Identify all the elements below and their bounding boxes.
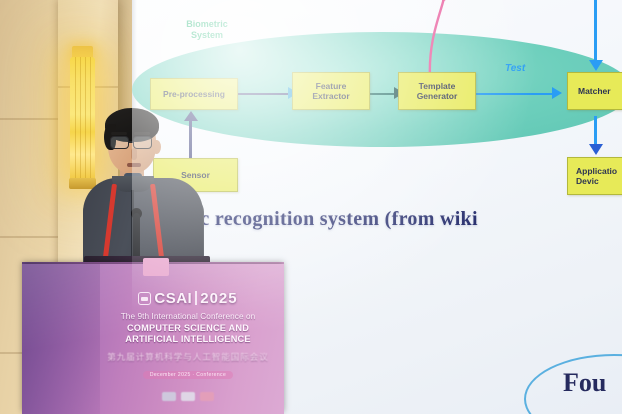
arrowhead-template-to-matcher bbox=[552, 87, 562, 99]
wall-seam bbox=[0, 236, 60, 238]
screenshot-root: Biometric System Pre-processing Sensor F… bbox=[0, 0, 622, 414]
wall-seam bbox=[0, 118, 60, 120]
glasses-bridge bbox=[128, 141, 134, 143]
speaker-mouth bbox=[127, 163, 141, 167]
glasses-lens-left bbox=[110, 136, 129, 149]
speaker-eyebrow-left bbox=[111, 132, 127, 135]
conference-title-chinese: 第九届计算机科学与人工智能国际会议 bbox=[100, 351, 276, 363]
node-matcher-label: Matcher bbox=[578, 86, 611, 96]
speaker-nose bbox=[131, 148, 137, 160]
node-pre-processing[interactable]: Pre-processing bbox=[150, 78, 238, 110]
speaker-ear bbox=[152, 140, 161, 154]
flow-label-test: Test bbox=[505, 63, 525, 74]
node-template-generator-label-line2: Generator bbox=[417, 91, 458, 101]
slide-caption: ometric recognition system (from wiki bbox=[142, 208, 622, 231]
arrowhead-sensor-to-preprocessing bbox=[184, 111, 198, 121]
node-application-device-label-line1: Applicatio bbox=[576, 166, 617, 176]
node-template-generator-label-line1: Template bbox=[419, 81, 456, 91]
speaker-eyebrow-right bbox=[134, 132, 150, 135]
conference-logo-row: CSAI 2025 bbox=[100, 288, 276, 308]
conference-acronym: CSAI bbox=[154, 290, 192, 307]
arrow-preprocessing-to-feature bbox=[238, 93, 294, 95]
node-sensor-label: Sensor bbox=[181, 170, 210, 180]
csai-logo-icon bbox=[138, 292, 151, 305]
glasses-lens-right bbox=[133, 136, 152, 149]
biometric-system-label: Biometric System bbox=[167, 19, 247, 41]
sponsor-logo-row bbox=[100, 392, 276, 401]
node-pre-processing-label: Pre-processing bbox=[163, 89, 225, 99]
biometric-label-line1: Biometric bbox=[167, 19, 247, 30]
conference-subtitle-line2: COMPUTER SCIENCE AND bbox=[100, 323, 276, 333]
conference-subtitle-line1: The 9th International Conference on bbox=[100, 312, 276, 321]
node-matcher[interactable]: Matcher bbox=[567, 72, 622, 110]
arrowhead-matcher-to-application bbox=[589, 144, 603, 155]
sponsor-logo-icon bbox=[181, 392, 195, 401]
podium-banner: CSAI 2025 The 9th International Conferen… bbox=[100, 288, 276, 408]
node-feature-extractor-label-line1: Feature bbox=[316, 81, 347, 91]
node-feature-extractor[interactable]: Feature Extractor bbox=[292, 72, 370, 110]
conference-subtitle-line3: ARTIFICIAL INTELLIGENCE bbox=[100, 334, 276, 344]
arrowhead-top-to-matcher bbox=[589, 60, 603, 71]
node-application-device-label-line2: Devic bbox=[576, 176, 599, 186]
conference-year: 2025 bbox=[200, 290, 237, 307]
sponsor-logo-icon bbox=[162, 392, 176, 401]
node-feature-extractor-label-line2: Extractor bbox=[312, 91, 349, 101]
arrow-template-to-matcher bbox=[476, 93, 558, 95]
logo-divider bbox=[195, 291, 197, 305]
arrow-top-to-matcher bbox=[594, 0, 597, 64]
microphone-stem bbox=[133, 213, 140, 259]
node-template-generator[interactable]: Template Generator bbox=[398, 72, 476, 110]
node-application-device[interactable]: Applicatio Devic bbox=[567, 157, 622, 195]
speaker-badge bbox=[143, 258, 169, 276]
next-slide-text: Fou bbox=[563, 368, 606, 398]
conference-date-badge: December 2025 · Conference bbox=[143, 371, 233, 379]
sponsor-logo-icon bbox=[200, 392, 214, 401]
biometric-label-line2: System bbox=[167, 30, 247, 41]
wall-sconce-lamp bbox=[70, 57, 95, 182]
